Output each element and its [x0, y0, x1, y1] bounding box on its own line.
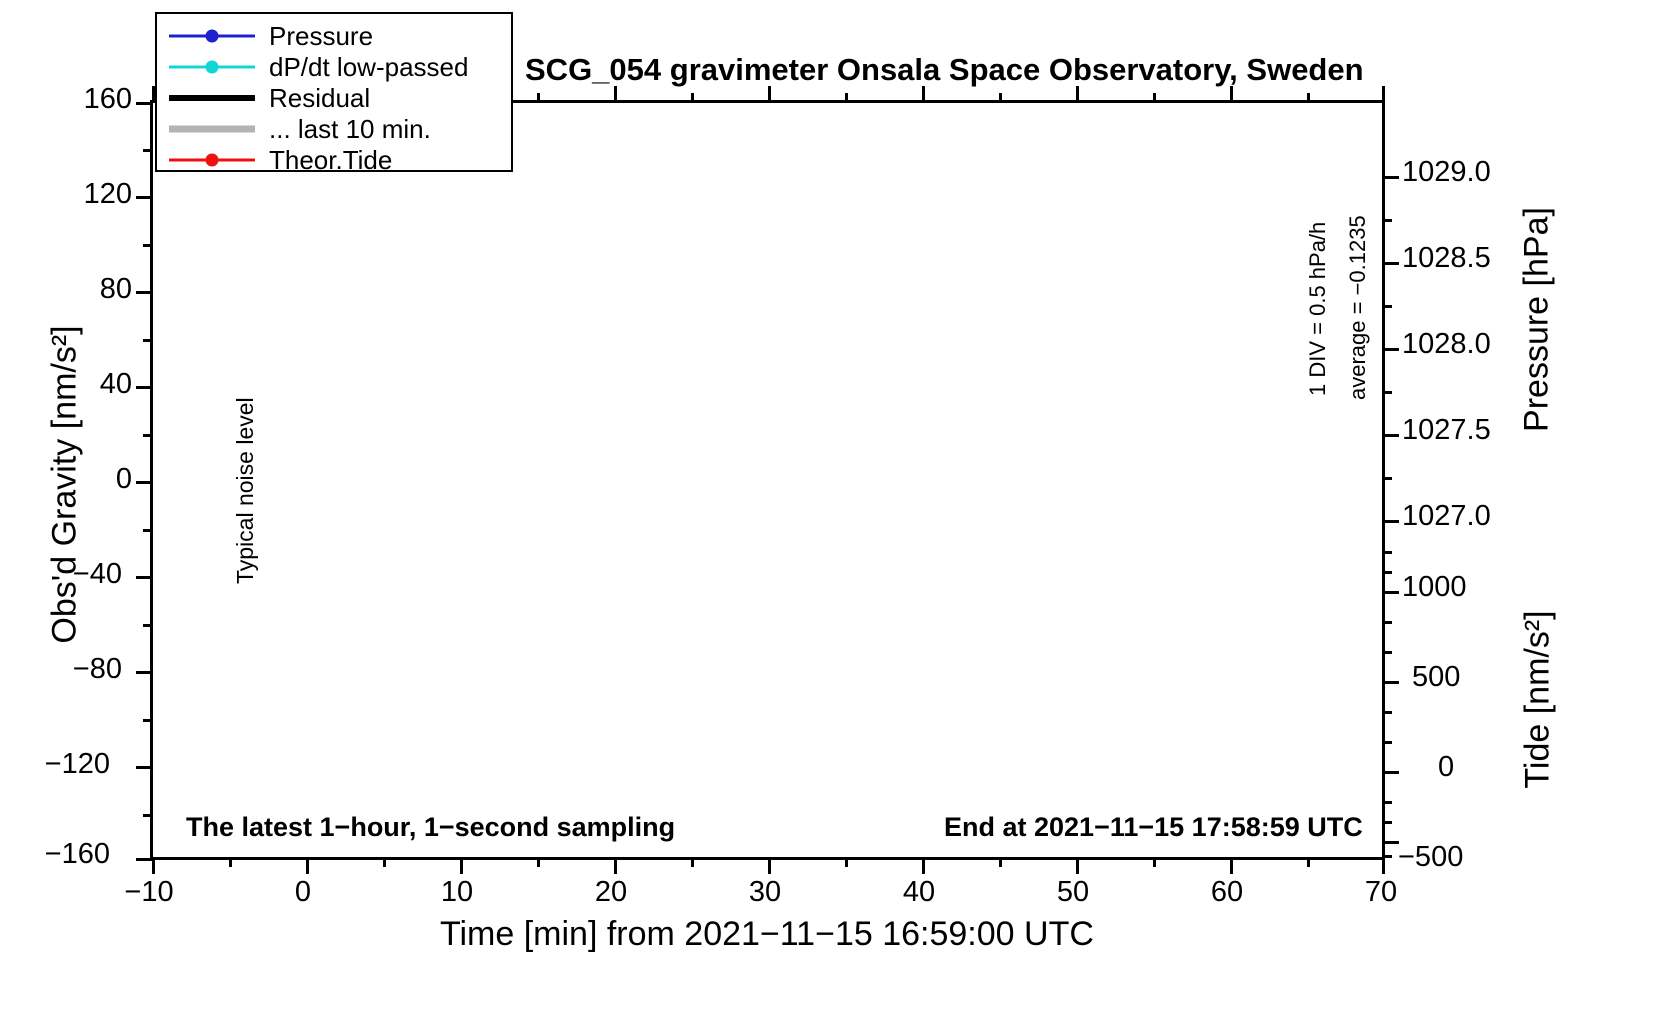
ytick-tide-1: 500 [1412, 663, 1460, 692]
ytick-pressure-3: 1027.5 [1402, 416, 1491, 445]
legend-label-last10: ... last 10 min. [269, 114, 431, 145]
xtick-6: 50 [1028, 878, 1118, 907]
xtick-1: 0 [258, 878, 348, 907]
legend-label-theortide: Theor.Tide [269, 145, 392, 176]
ytick-tide-0: 1000 [1402, 573, 1467, 602]
noise-level-label: Typical noise level [232, 397, 259, 584]
legend: Pressure dP/dt low-passed Residual ... l… [155, 12, 513, 172]
legend-item-theortide[interactable]: Theor.Tide [157, 145, 511, 175]
xtick-5: 40 [874, 878, 964, 907]
ytick-left-8: −160 [10, 840, 110, 869]
legend-label-residual: Residual [269, 83, 370, 114]
ytick-left-0: 160 [32, 85, 132, 114]
xtick-2: 10 [412, 878, 502, 907]
legend-swatch-last10 [169, 114, 255, 144]
ytick-tide-3: −500 [1398, 843, 1463, 872]
legend-item-last10[interactable]: ... last 10 min. [157, 114, 511, 144]
ytick-pressure-1: 1028.5 [1402, 244, 1491, 273]
legend-label-pressure: Pressure [269, 21, 373, 52]
legend-item-pressure[interactable]: Pressure [157, 21, 511, 51]
legend-label-dpdt: dP/dt low-passed [269, 52, 468, 83]
page-title: SCG_054 gravimeter Onsala Space Observat… [525, 52, 1364, 88]
bottom-left-note: The latest 1−hour, 1−second sampling [186, 812, 675, 843]
ytick-left-1: 120 [32, 180, 132, 209]
legend-item-dpdt[interactable]: dP/dt low-passed [157, 52, 511, 82]
ytick-left-7: −120 [10, 750, 110, 779]
plot-frame [150, 100, 1385, 860]
ytick-pressure-0: 1029.0 [1402, 158, 1491, 187]
ytick-pressure-2: 1028.0 [1402, 330, 1491, 359]
legend-swatch-pressure [169, 21, 255, 51]
legend-item-residual[interactable]: Residual [157, 83, 511, 113]
div-scale-note: 1 DIV = 0.5 hPa/h [1305, 222, 1331, 396]
legend-swatch-theortide [169, 145, 255, 175]
average-note: average = −0.1235 [1345, 215, 1371, 400]
y-axis-title-tide: Tide [nm/s²] [1519, 560, 1558, 840]
xtick-7: 60 [1182, 878, 1272, 907]
legend-swatch-residual [169, 83, 255, 113]
xtick-0: −10 [104, 878, 194, 907]
ytick-tide-2: 0 [1438, 753, 1454, 782]
xtick-8: 70 [1336, 878, 1426, 907]
gravimeter-plot-page: 160 120 80 40 0 −40 −80 −120 −160 −10 0 … [0, 0, 1660, 1020]
ytick-pressure-4: 1027.0 [1402, 502, 1491, 531]
xtick-4: 30 [720, 878, 810, 907]
x-axis-title: Time [min] from 2021−11−15 16:59:00 UTC [440, 915, 1094, 954]
y-axis-title-pressure: Pressure [hPa] [1518, 175, 1557, 465]
y-axis-title-left: Obs'd Gravity [nm/s²] [46, 285, 85, 685]
legend-swatch-dpdt [169, 52, 255, 82]
bottom-right-note: End at 2021−11−15 17:58:59 UTC [944, 812, 1363, 843]
xtick-3: 20 [566, 878, 656, 907]
